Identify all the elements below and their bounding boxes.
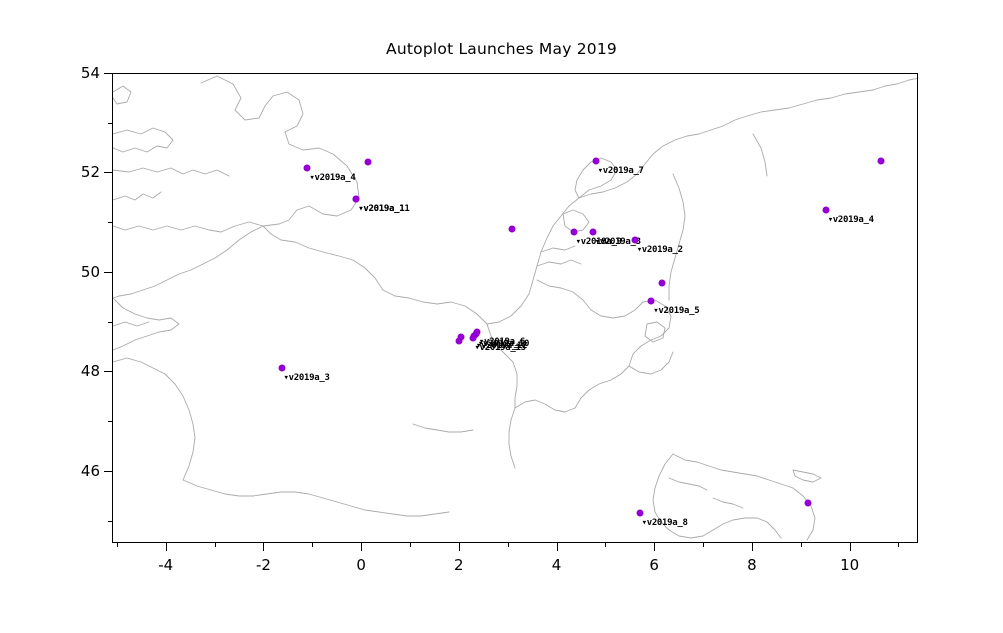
x-tick-minor (508, 543, 509, 547)
x-tick-minor (898, 543, 899, 547)
scatter-point[interactable] (822, 206, 829, 213)
scatter-point[interactable] (658, 279, 665, 286)
x-tick-minor (801, 543, 802, 547)
x-tick-minor (312, 543, 313, 547)
y-tick-major (104, 272, 112, 273)
y-tick-major (104, 172, 112, 173)
y-tick-major (104, 371, 112, 372)
scatter-point-label: ▾v2019a_2 (637, 245, 683, 255)
scatter-point[interactable] (570, 229, 577, 236)
scatter-point-label: ▾v2019a_7 (598, 166, 644, 176)
scatter-point-label: ▾v2019a_4 (828, 215, 874, 225)
scatter-point-label: ▾v2019a_8 (642, 518, 688, 528)
y-tick-minor (108, 521, 112, 522)
scatter-point[interactable] (278, 365, 285, 372)
scatter-map-axes: ▾v2019a_4▾v2019a_11▾v2019a_1▾v2019a_7▾v2… (112, 73, 918, 543)
x-tick-minor (605, 543, 606, 547)
scatter-point[interactable] (469, 334, 476, 341)
matplotlib-figure: Autoplot Launches May 2019 (0, 0, 1003, 633)
y-tick-label: 46 (40, 462, 100, 480)
scatter-point-label: ▾v2019a_4 (309, 173, 355, 183)
scatter-point[interactable] (365, 159, 372, 166)
y-tick-major (104, 73, 112, 74)
scatter-point[interactable] (877, 157, 884, 164)
x-tick-label: -2 (233, 556, 293, 574)
x-tick-major (361, 543, 362, 551)
y-tick-major (104, 471, 112, 472)
coastline-map (113, 74, 918, 543)
x-tick-major (459, 543, 460, 551)
x-tick-major (166, 543, 167, 551)
y-tick-label: 50 (40, 263, 100, 281)
scatter-point-label: ▾v2019a_1 (358, 204, 404, 214)
scatter-point[interactable] (631, 236, 638, 243)
x-tick-label: 8 (722, 556, 782, 574)
x-tick-label: -4 (136, 556, 196, 574)
x-tick-major (263, 543, 264, 551)
x-tick-minor (703, 543, 704, 547)
x-tick-minor (215, 543, 216, 547)
scatter-point[interactable] (353, 196, 360, 203)
x-tick-major (850, 543, 851, 551)
y-tick-minor (108, 322, 112, 323)
scatter-point[interactable] (508, 225, 515, 232)
x-tick-label: 0 (331, 556, 391, 574)
y-tick-label: 48 (40, 362, 100, 380)
x-tick-major (654, 543, 655, 551)
x-tick-label: 10 (820, 556, 880, 574)
x-tick-label: 2 (429, 556, 489, 574)
y-tick-minor (108, 123, 112, 124)
x-tick-major (557, 543, 558, 551)
scatter-point[interactable] (805, 499, 812, 506)
x-tick-label: 6 (624, 556, 684, 574)
scatter-point[interactable] (648, 298, 655, 305)
x-tick-label: 4 (527, 556, 587, 574)
scatter-point-label: ▾v2019a_5 (653, 306, 699, 316)
y-tick-label: 52 (40, 163, 100, 181)
y-tick-label: 54 (40, 64, 100, 82)
scatter-point[interactable] (592, 157, 599, 164)
x-tick-major (752, 543, 753, 551)
x-tick-minor (410, 543, 411, 547)
scatter-point-label: ▾v2019a_3 (284, 373, 330, 383)
page-title: Autoplot Launches May 2019 (0, 40, 1003, 58)
x-tick-minor (117, 543, 118, 547)
scatter-point[interactable] (589, 229, 596, 236)
scatter-point[interactable] (455, 337, 462, 344)
y-tick-minor (108, 421, 112, 422)
scatter-point[interactable] (636, 509, 643, 516)
scatter-point-label: ▾v2019a_13 (475, 343, 526, 353)
scatter-point[interactable] (304, 164, 311, 171)
y-tick-minor (108, 222, 112, 223)
